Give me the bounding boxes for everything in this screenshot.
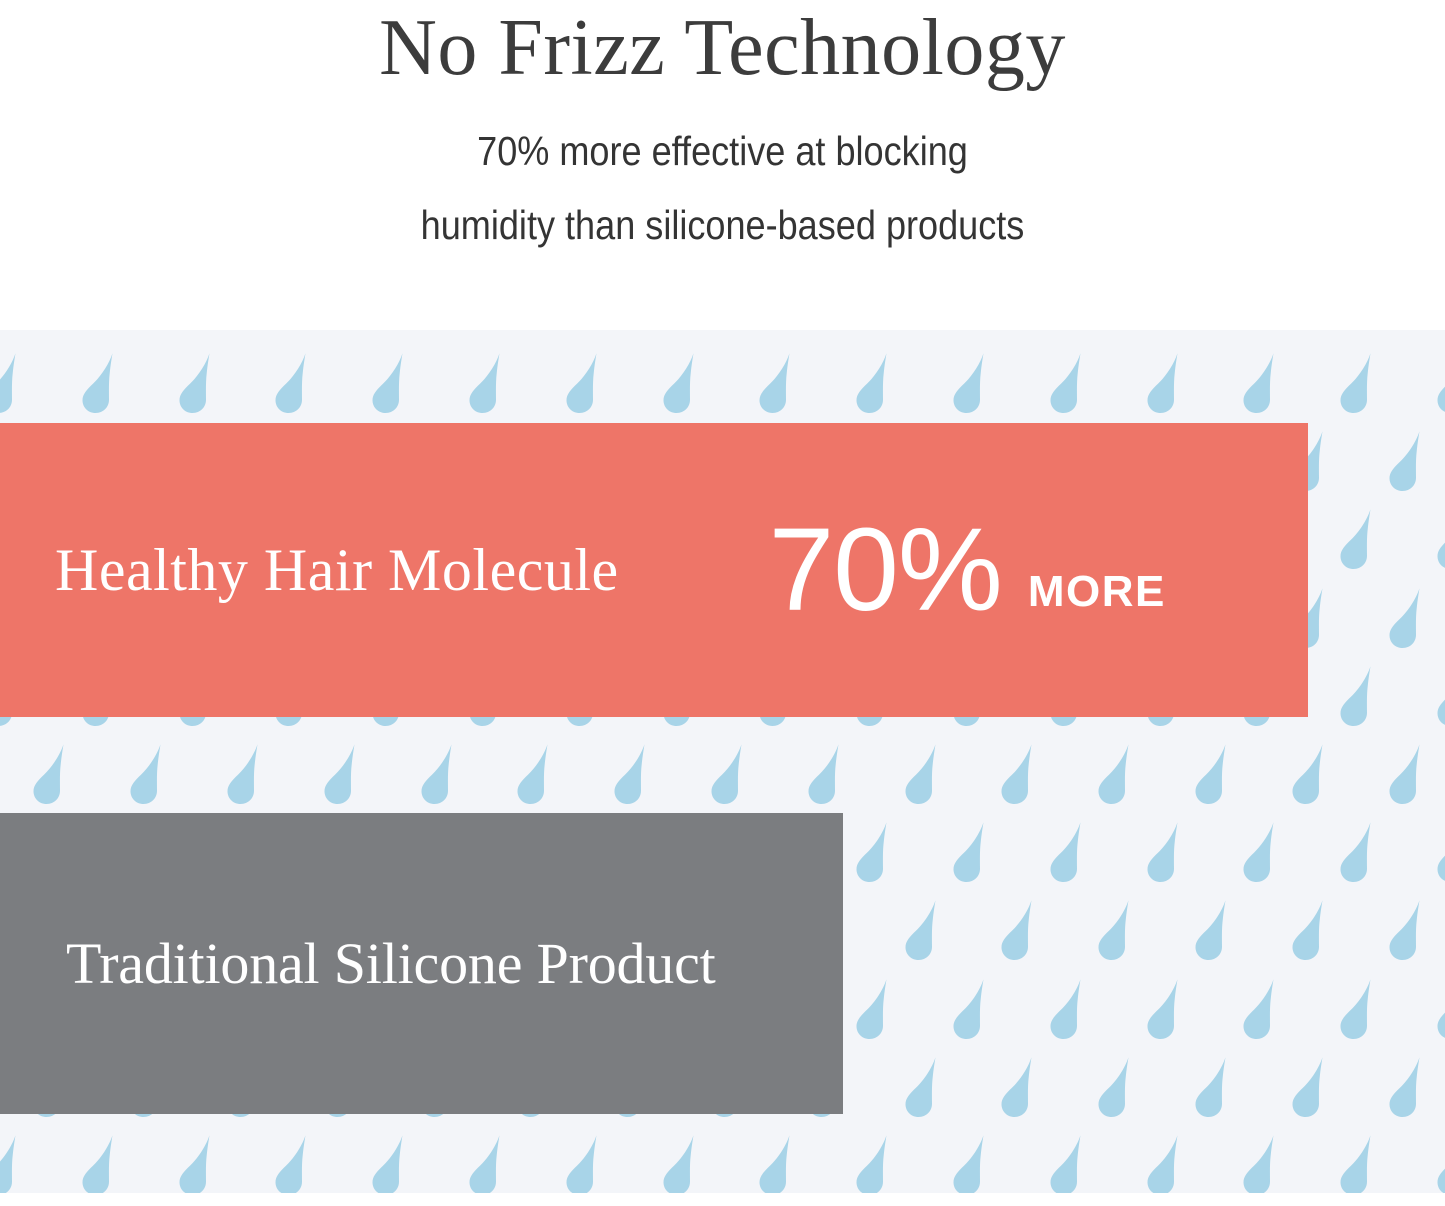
raindrop-icon (466, 352, 504, 414)
raindrop-icon (1192, 899, 1230, 961)
raindrop-icon (1144, 821, 1182, 883)
raindrop-icon (660, 352, 698, 414)
raindrop-icon (1095, 1056, 1133, 1118)
raindrop-icon (853, 352, 891, 414)
raindrop-icon (369, 1134, 407, 1193)
raindrop-icon (1095, 899, 1133, 961)
raindrop-icon (1192, 743, 1230, 805)
header: No Frizz Technology 70% more effective a… (0, 0, 1445, 262)
raindrop-icon (1386, 587, 1424, 649)
raindrop-icon (853, 1134, 891, 1193)
raindrop-icon (756, 352, 794, 414)
raindrop-icon (272, 352, 310, 414)
raindrop-icon (805, 743, 843, 805)
raindrop-icon (902, 1056, 940, 1118)
raindrop-icon (1337, 665, 1375, 727)
raindrop-icon (1434, 508, 1445, 570)
raindrop-icon (611, 743, 649, 805)
raindrop-icon (321, 743, 359, 805)
raindrop-icon (1144, 978, 1182, 1040)
raindrop-icon (1047, 821, 1085, 883)
bar-label-healthy-hair-molecule: Healthy Hair Molecule (55, 540, 619, 600)
raindrop-icon (902, 899, 940, 961)
raindrop-icon (1337, 821, 1375, 883)
raindrop-icon (1240, 978, 1278, 1040)
raindrop-icon (1144, 1134, 1182, 1193)
raindrop-icon (1337, 1134, 1375, 1193)
raindrop-icon (902, 743, 940, 805)
raindrop-icon (1289, 1056, 1327, 1118)
stat-callout: 70% MORE (769, 511, 1166, 629)
stat-value: 70% (769, 511, 1002, 629)
raindrop-icon (1289, 743, 1327, 805)
raindrop-icon (1386, 743, 1424, 805)
raindrop-icon (369, 352, 407, 414)
raindrop-icon (1047, 978, 1085, 1040)
raindrop-icon (1240, 1134, 1278, 1193)
raindrop-icon (998, 899, 1036, 961)
raindrop-icon (1289, 899, 1327, 961)
raindrop-icon (1095, 743, 1133, 805)
raindrop-icon (1047, 1134, 1085, 1193)
raindrop-icon (176, 1134, 214, 1193)
raindrop-icon (514, 743, 552, 805)
raindrop-icon (950, 821, 988, 883)
raindrop-icon (853, 821, 891, 883)
chart-panel: Healthy Hair Molecule 70% MORE Tradition… (0, 330, 1445, 1193)
raindrop-icon (1434, 821, 1445, 883)
raindrop-icon (30, 743, 68, 805)
page-subtitle-line-2: humidity than silicone-based products (87, 188, 1359, 262)
raindrop-icon (79, 1134, 117, 1193)
raindrop-icon (563, 1134, 601, 1193)
raindrop-icon (998, 1056, 1036, 1118)
raindrop-icon (272, 1134, 310, 1193)
raindrop-icon (756, 1134, 794, 1193)
raindrop-icon (1434, 352, 1445, 414)
raindrop-icon (127, 743, 165, 805)
raindrop-icon (1144, 352, 1182, 414)
page-subtitle: 70% more effective at blocking humidity … (87, 94, 1359, 262)
raindrop-icon (660, 1134, 698, 1193)
raindrop-icon (1434, 1134, 1445, 1193)
page-title: No Frizz Technology (0, 0, 1445, 94)
raindrop-icon (1337, 508, 1375, 570)
raindrop-icon (1434, 978, 1445, 1040)
raindrop-icon (708, 743, 746, 805)
raindrop-icon (176, 352, 214, 414)
bar-label-traditional-silicone-product: Traditional Silicone Product (66, 935, 716, 993)
raindrop-icon (950, 978, 988, 1040)
raindrop-icon (1386, 1056, 1424, 1118)
raindrop-icon (1386, 430, 1424, 492)
raindrop-icon (466, 1134, 504, 1193)
raindrop-icon (79, 352, 117, 414)
bar-healthy-hair-molecule: Healthy Hair Molecule 70% MORE (0, 423, 1308, 717)
raindrop-icon (0, 352, 20, 414)
infographic-root: No Frizz Technology 70% more effective a… (0, 0, 1445, 1206)
raindrop-icon (1337, 352, 1375, 414)
bar-traditional-silicone-product: Traditional Silicone Product (0, 813, 843, 1114)
raindrop-icon (998, 743, 1036, 805)
raindrop-icon (224, 743, 262, 805)
raindrop-icon (1337, 978, 1375, 1040)
raindrop-icon (1047, 352, 1085, 414)
raindrop-icon (1240, 821, 1278, 883)
raindrop-icon (950, 1134, 988, 1193)
raindrop-icon (418, 743, 456, 805)
page-subtitle-line-1: 70% more effective at blocking (87, 114, 1359, 188)
raindrop-icon (1192, 1056, 1230, 1118)
raindrop-icon (950, 352, 988, 414)
raindrop-icon (1240, 352, 1278, 414)
raindrop-icon (0, 1134, 20, 1193)
raindrop-icon (1386, 899, 1424, 961)
stat-suffix: MORE (1028, 570, 1166, 614)
raindrop-icon (853, 978, 891, 1040)
raindrop-icon (1434, 665, 1445, 727)
raindrop-icon (563, 352, 601, 414)
